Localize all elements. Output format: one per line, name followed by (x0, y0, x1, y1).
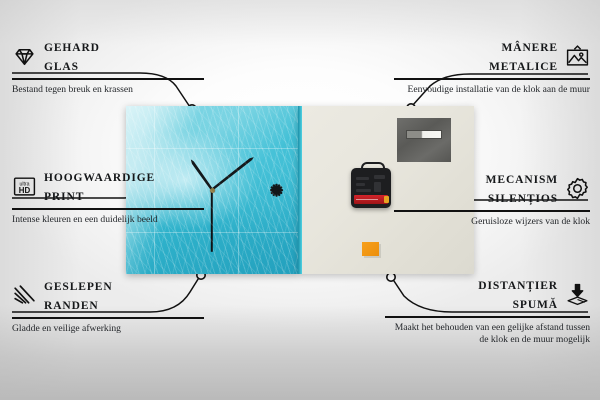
feature-title-line1: HOOGWAARDIGE (44, 172, 155, 184)
clock-second-hand (211, 190, 213, 252)
feature-description: Geruisloze wijzers van de klok (394, 216, 590, 229)
feature-description: Bestand tegen breuk en krassen (12, 84, 204, 97)
feature-manere-metalice: MÂNERE METALICE Eenvoudige installatie v… (394, 38, 590, 96)
ultra-hd-icon: ultra HD (12, 174, 37, 199)
feature-description: Gladde en veilige afwerking (12, 323, 204, 336)
infographic-canvas: GEHARD GLAS Bestand tegen breuk en krass… (0, 0, 600, 400)
clock-minute-hand (211, 156, 255, 191)
divider (12, 78, 204, 80)
feature-title-line2: SPUMĂ (513, 299, 558, 311)
feature-title-line1: MECANISM (486, 174, 558, 186)
divider (385, 316, 590, 318)
feature-title-line2: GLAS (44, 61, 79, 73)
feature-distantier-spuma: DISTANȚIER SPUMĂ Maakt het behouden van … (385, 276, 590, 347)
feature-gehard-glas: GEHARD GLAS Bestand tegen breuk en krass… (12, 38, 204, 96)
feature-title-line1: DISTANȚIER (478, 280, 558, 292)
feature-title-line2: RANDEN (44, 300, 99, 312)
spacer-down-arrow-icon (565, 282, 590, 307)
feature-title-line1: GESLEPEN (44, 281, 113, 293)
clock-center-pin (210, 188, 215, 193)
svg-text:HD: HD (19, 186, 31, 195)
feature-description: Maakt het behouden van een gelijke afsta… (385, 322, 590, 347)
feature-title-line2: SILENȚIOS (488, 193, 558, 205)
diamond-icon (12, 44, 37, 69)
battery (354, 195, 388, 204)
quartz-mechanism (351, 168, 391, 208)
feature-description: Intense kleuren en een duidelijk beeld (12, 214, 204, 227)
diagonal-lines-icon (12, 283, 37, 308)
hanger-slot (406, 130, 442, 139)
glass-edge (298, 106, 302, 274)
feature-title-line1: GEHARD (44, 42, 100, 54)
feature-mecanism-silentios: MECANISM SILENȚIOS Geruisloze wijzers va… (394, 170, 590, 228)
divider (12, 317, 204, 319)
feature-title-line1: MÂNERE (501, 42, 558, 54)
divider (394, 78, 590, 80)
gear-icon (565, 176, 590, 201)
metal-hanger-plate (397, 118, 451, 162)
mechanism-bail (361, 162, 385, 173)
feature-title-line2: METALICE (489, 61, 558, 73)
feature-geslepen-randen: GESLEPEN RANDEN Gladde en veilige afwerk… (12, 277, 204, 335)
picture-frame-hook-icon (565, 44, 590, 69)
foam-spacer (362, 242, 379, 256)
divider (12, 208, 204, 210)
divider (394, 210, 590, 212)
feature-description: Eenvoudige installatie van de klok aan d… (394, 84, 590, 97)
feature-title-line2: PRINT (44, 191, 84, 203)
feature-hoogwaardige-print: ultra HD HOOGWAARDIGE PRINT Intense kleu… (12, 168, 204, 226)
